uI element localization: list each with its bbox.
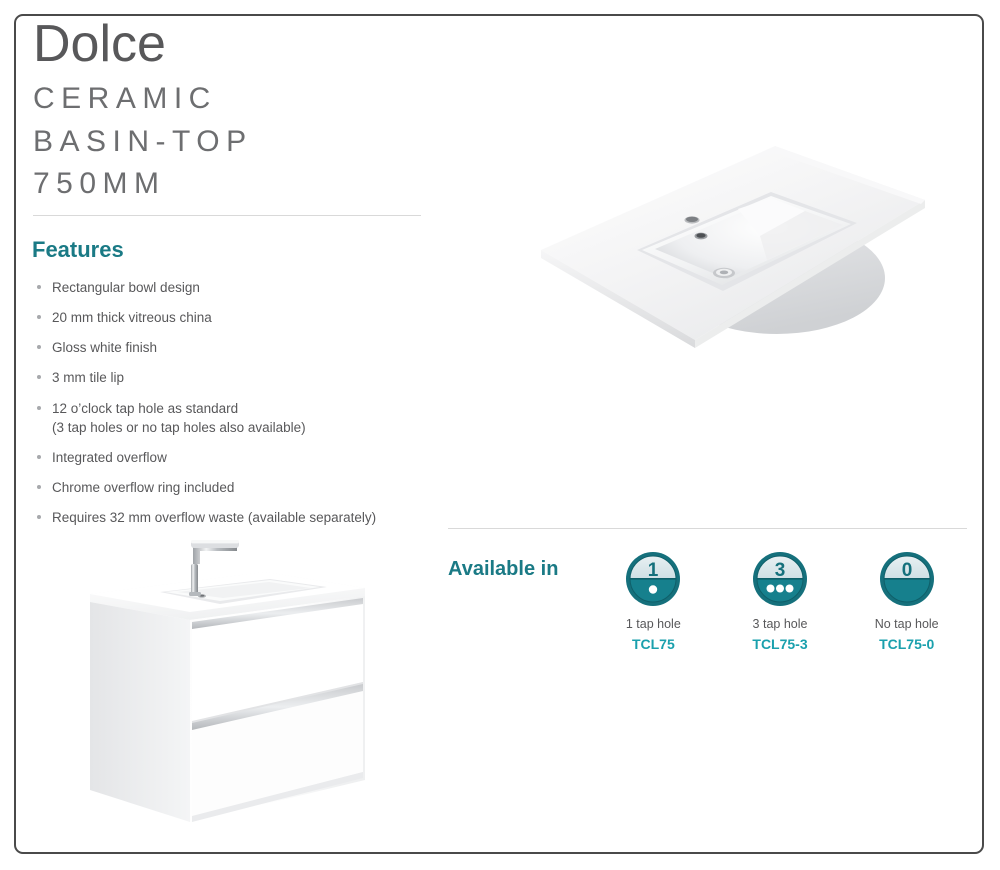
tap-hole-label: 3 tap hole [717, 617, 844, 631]
title-block: Dolce CERAMIC BASIN-TOP 750MM [33, 16, 433, 206]
tap-hole-label: 1 tap hole [590, 617, 717, 631]
basin-product-image [505, 128, 960, 378]
three-tap-hole-icon: 3 [751, 550, 809, 608]
features-heading: Features [32, 237, 124, 263]
product-spec-sheet: Dolce CERAMIC BASIN-TOP 750MM Features R… [0, 0, 1000, 870]
tap-hole-count-label: 1 [648, 560, 659, 581]
vanity-product-image [65, 522, 395, 852]
tap-hole-option-0[interactable]: 0 No tap hole TCL75-0 [843, 550, 970, 652]
list-item: 20 mm thick vitreous china [33, 308, 433, 327]
product-subtitle: CERAMIC BASIN-TOP 750MM [33, 78, 433, 206]
list-item: Gloss white finish [33, 338, 433, 357]
tap-hole-option-3[interactable]: 3 3 tap hole TCL75-3 [717, 550, 844, 652]
list-item: 3 mm tile lip [33, 368, 433, 387]
product-code: TCL75-0 [843, 636, 970, 652]
features-list: Rectangular bowl design 20 mm thick vitr… [33, 278, 433, 538]
list-item: Rectangular bowl design [33, 278, 433, 297]
tap-hole-count-label: 3 [775, 560, 786, 581]
list-item: 12 o’clock tap hole as standard (3 tap h… [33, 399, 433, 437]
tap-hole-count-label: 0 [901, 560, 912, 581]
tap-hole-options: 1 1 tap hole TCL75 [590, 550, 970, 652]
one-tap-hole-icon: 1 [624, 550, 682, 608]
tap-hole-label: No tap hole [843, 617, 970, 631]
list-item: Chrome overflow ring included [33, 478, 433, 497]
divider-available [448, 528, 967, 529]
product-code: TCL75 [590, 636, 717, 652]
available-in-heading: Available in [448, 558, 558, 581]
list-item: Integrated overflow [33, 448, 433, 467]
product-code: TCL75-3 [717, 636, 844, 652]
tap-hole-option-1[interactable]: 1 1 tap hole TCL75 [590, 550, 717, 652]
divider-title [33, 215, 421, 216]
no-tap-hole-icon: 0 [878, 550, 936, 608]
page-title: Dolce [33, 16, 433, 72]
